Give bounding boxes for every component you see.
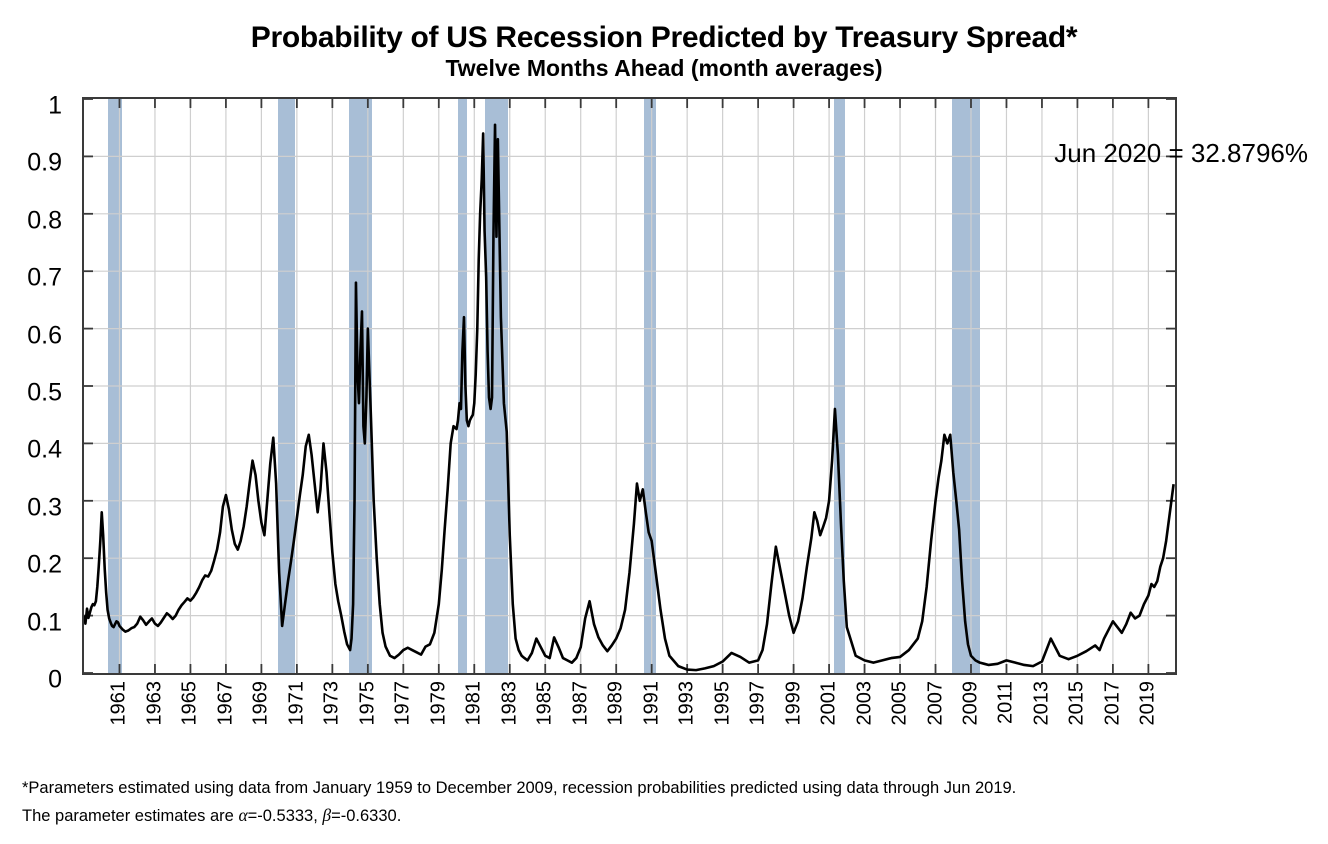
x-tick-label: 1965 — [179, 681, 202, 726]
y-tick-label: 1 — [48, 94, 62, 119]
footnote-line-2-pre: The parameter estimates are — [22, 807, 238, 825]
x-tick-label: 2001 — [818, 681, 841, 726]
x-tick-label: 1967 — [214, 681, 237, 726]
x-tick-label: 1987 — [569, 681, 592, 726]
y-tick-label: 0.9 — [27, 151, 62, 176]
beta-value: =-0.6330. — [331, 807, 401, 825]
x-tick-label: 2019 — [1137, 681, 1160, 726]
x-tick-label: 2009 — [959, 681, 982, 726]
x-tick-label: 1993 — [676, 681, 699, 726]
x-tick-label: 2015 — [1066, 681, 1089, 726]
chart-area: 00.10.20.30.40.50.60.70.80.91 Jun 2020 =… — [0, 90, 1328, 690]
x-tick-label: 1973 — [321, 681, 344, 726]
last-value-annotation: Jun 2020 = 32.8796% — [1054, 138, 1308, 169]
footnote-line-2: The parameter estimates are α=-0.5333, β… — [22, 802, 1322, 830]
x-axis-labels: 1961196319651967196919711973197519771979… — [82, 681, 1177, 781]
x-tick-label: 1995 — [711, 681, 734, 726]
x-tick-label: 1985 — [534, 681, 557, 726]
x-tick-label: 2011 — [995, 681, 1018, 724]
probability-curve — [84, 125, 1174, 670]
x-tick-label: 2005 — [889, 681, 912, 726]
x-tick-label: 2013 — [1030, 681, 1053, 726]
x-tick-label: 1983 — [498, 681, 521, 726]
alpha-value: =-0.5333, — [248, 807, 323, 825]
y-tick-label: 0.3 — [27, 495, 62, 520]
page-title: Probability of US Recession Predicted by… — [0, 22, 1328, 54]
x-tick-label: 1977 — [392, 681, 415, 726]
y-tick-label: 0.4 — [27, 438, 62, 463]
footnote-line-1: *Parameters estimated using data from Ja… — [22, 776, 1322, 802]
y-tick-label: 0 — [48, 668, 62, 693]
x-tick-label: 1979 — [427, 681, 450, 726]
page-subtitle: Twelve Months Ahead (month averages) — [0, 56, 1328, 82]
y-tick-label: 0.2 — [27, 553, 62, 578]
plot-inner — [84, 99, 1175, 673]
x-tick-label: 1989 — [605, 681, 628, 726]
x-tick-label: 2003 — [853, 681, 876, 726]
x-tick-label: 1975 — [356, 681, 379, 726]
y-tick-label: 0.7 — [27, 266, 62, 291]
x-tick-label: 1963 — [143, 681, 166, 726]
y-tick-label: 0.5 — [27, 381, 62, 406]
beta-symbol: β — [322, 805, 331, 825]
x-tick-label: 2007 — [924, 681, 947, 726]
recession-probability-line — [84, 99, 1175, 673]
alpha-symbol: α — [238, 805, 247, 825]
x-tick-label: 1991 — [640, 681, 663, 726]
footnote: *Parameters estimated using data from Ja… — [22, 776, 1322, 829]
y-tick-label: 0.6 — [27, 323, 62, 348]
chart-page: Probability of US Recession Predicted by… — [0, 0, 1328, 844]
x-tick-label: 1981 — [463, 681, 486, 726]
x-tick-label: 1997 — [747, 681, 770, 726]
y-tick-label: 0.8 — [27, 208, 62, 233]
x-tick-label: 1971 — [285, 681, 308, 726]
chart-title-block: Probability of US Recession Predicted by… — [0, 22, 1328, 82]
y-tick-label: 0.1 — [27, 610, 62, 635]
y-axis-labels: 00.10.20.30.40.50.60.70.80.91 — [0, 97, 72, 675]
x-tick-label: 1969 — [250, 681, 273, 726]
x-tick-label: 1999 — [782, 681, 805, 726]
x-tick-label: 2017 — [1101, 681, 1124, 726]
x-tick-label: 1961 — [108, 681, 131, 726]
plot-frame — [82, 97, 1177, 675]
